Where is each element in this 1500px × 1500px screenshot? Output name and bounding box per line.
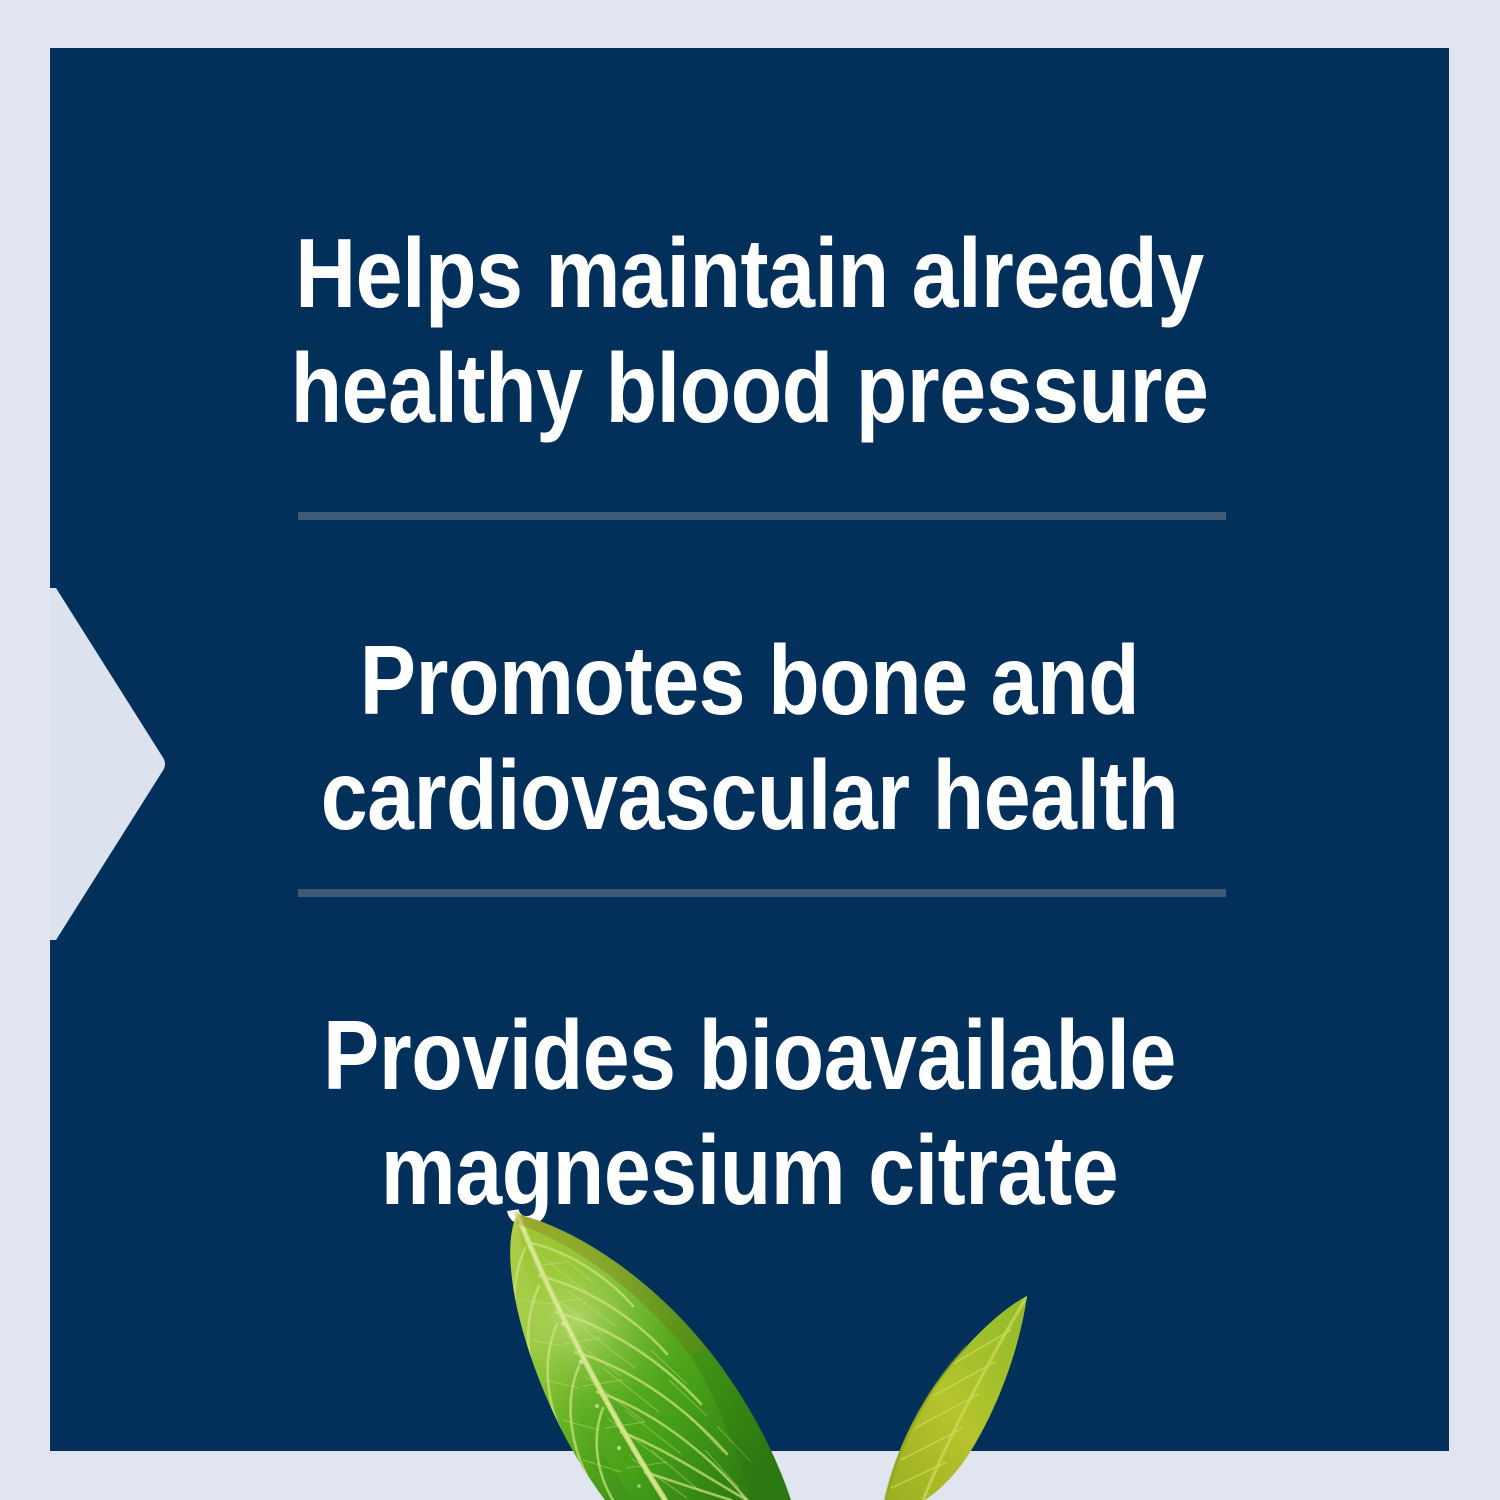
- benefit-text-bone-cardiovascular: Promotes bone and cardiovascular health: [148, 623, 1351, 852]
- benefit-text-blood-pressure: Helps maintain already healthy blood pre…: [148, 216, 1351, 445]
- benefit-text-magnesium-citrate: Provides bioavailable magnesium citrate: [148, 998, 1351, 1227]
- navy-content-panel: Helps maintain already healthy blood pre…: [50, 48, 1449, 1451]
- section-divider: [298, 512, 1226, 520]
- section-divider: [298, 889, 1226, 897]
- marketing-benefits-graphic: Helps maintain already healthy blood pre…: [0, 0, 1500, 1500]
